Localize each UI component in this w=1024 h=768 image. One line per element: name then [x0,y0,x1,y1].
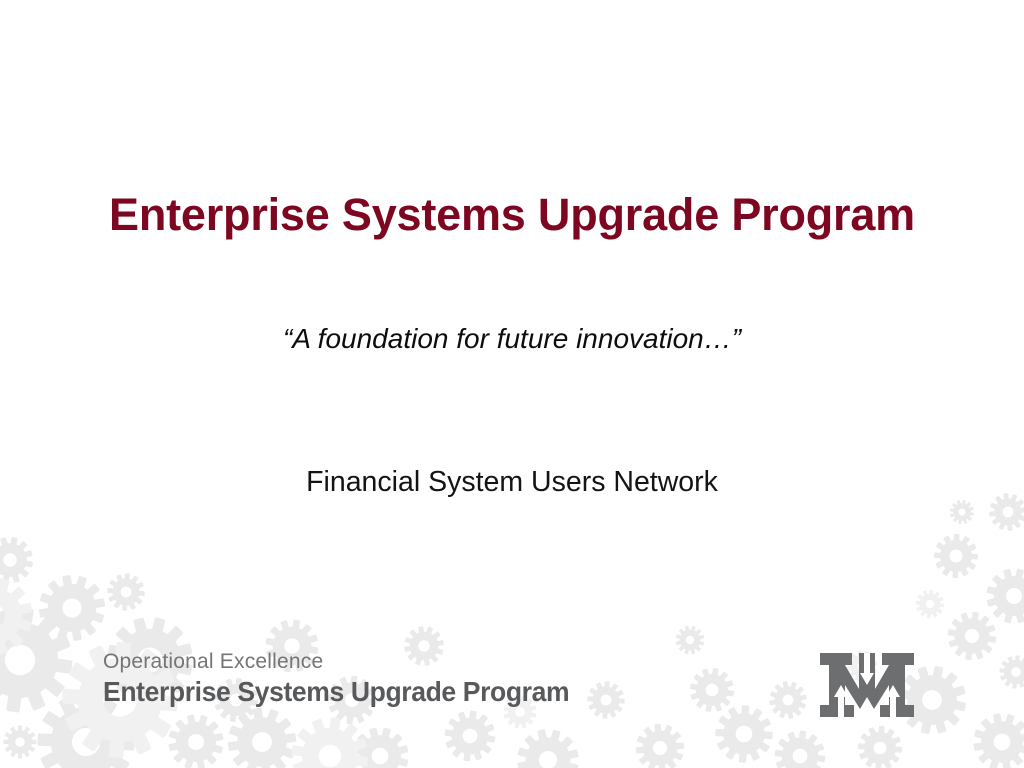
slide-audience-line: Financial System Users Network [0,466,1024,499]
program-logo-lockup: Operational Excellence Enterprise System… [103,651,586,706]
program-logo-line-2: Enterprise Systems Upgrade Program [103,678,569,706]
program-logo-line-1: Operational Excellence [103,651,586,672]
umn-block-m-logo-icon [812,645,922,725]
slide-subtitle: “A foundation for future innovation…” [0,323,1024,355]
page-title: Enterprise Systems Upgrade Program [0,191,1024,238]
presentation-slide: Enterprise Systems Upgrade Program “A fo… [0,0,1024,768]
